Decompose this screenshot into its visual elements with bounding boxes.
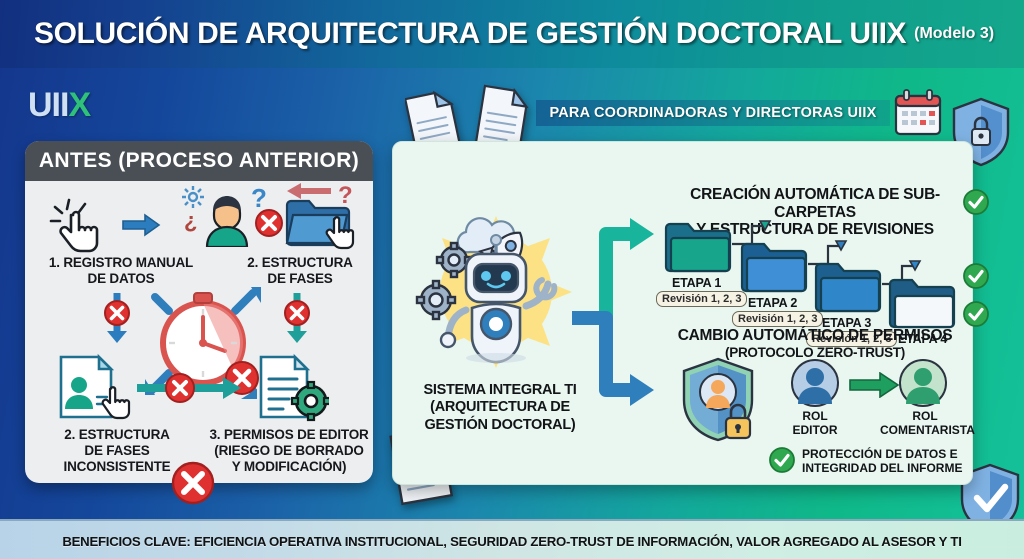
folder-icon [886,274,958,334]
protection-line1: PROTECCIÓN DE DATOS E [802,447,958,461]
audience-ribbon: PARA COORDINADORAS Y DIRECTORAS UIIX [536,100,890,126]
footer-text: BENEFICIOS CLAVE: EFICIENCIA OPERATIVA I… [62,534,961,549]
header-bar: SOLUCIÓN DE ARQUITECTURA DE GESTIÓN DOCT… [0,0,1024,68]
user-icon [898,358,948,408]
role-from-label: ROLEDITOR [780,410,850,438]
question-mark-icon: ¿ [183,207,201,233]
folder-icon [738,238,810,298]
cross-circle-icon [170,460,216,506]
page-title: SOLUCIÓN DE ARQUITECTURA DE GESTIÓN DOCT… [34,17,906,51]
svg-text:¿: ¿ [184,208,197,233]
svg-text:?: ? [338,182,353,209]
protection-line2: INTEGRIDAD DEL INFORME [802,461,962,475]
revision-badge: Revisión 1, 2, 3 [732,311,823,327]
check-circle-icon [962,188,990,216]
folder-icon [812,258,884,318]
check-circle-icon [962,300,990,328]
arrow-right-icon [848,372,900,398]
user-icon [790,358,840,408]
user-icon [201,193,253,247]
arrow-left-icon [285,181,333,201]
audience-ribbon-text: PARA COORDINADORAS Y DIRECTORAS UIIX [549,105,876,121]
page-subtitle: (Modelo 3) [914,25,994,43]
role-to-label: ROLCOMENTARISTA [880,410,970,438]
before-item-label: 3. PERMISOS DE EDITOR(RIESGO DE BORRADOY… [201,427,373,475]
before-panel-body: ? ¿ ? 1. REGISTRO MANUALDE DATOS [25,181,373,483]
logo-text: UII [28,86,68,124]
calendar-icon [892,88,944,138]
check-circle-icon [962,262,990,290]
down-arrow-blocked-icon [281,291,313,343]
uiix-logo: UIIX [28,86,90,125]
branch-arrows-icon [572,210,662,420]
cross-circle-icon [253,207,285,239]
before-panel: ANTES (PROCESO ANTERIOR) [25,141,373,483]
folder-icon [662,218,734,278]
cross-circle-icon [163,371,197,405]
check-circle-icon [768,446,796,474]
stage-label: ETAPA 1 [672,276,721,290]
click-hand-icon [321,211,359,251]
footer-bar: BENEFICIOS CLAVE: EFICIENCIA OPERATIVA I… [0,519,1024,559]
arrow-right-icon [121,213,161,237]
logo-accent: X [68,86,90,124]
shield-lock-icon [678,356,758,442]
down-arrow-blocked-icon [101,291,133,343]
center-system-label: SISTEMA INTEGRAL TI(ARQUITECTURA DEGESTI… [400,382,600,434]
before-panel-heading: ANTES (PROCESO ANTERIOR) [25,141,373,181]
permissions-title-line1: CAMBIO AUTOMÁTICO DE PERMISOS [678,327,953,344]
folders-title-line1: CREACIÓN AUTOMÁTICA DE SUB-CARPETAS [690,186,940,221]
robot-icon [404,196,594,376]
stage-label: ETAPA 2 [748,296,797,310]
permissions-section-title: CAMBIO AUTOMÁTICO DE PERMISOS [660,327,970,345]
question-mark-icon: ? [337,181,357,209]
infographic-canvas: SOLUCIÓN DE ARQUITECTURA DE GESTIÓN DOCT… [0,0,1024,559]
protection-label: PROTECCIÓN DE DATOS E INTEGRIDAD DEL INF… [802,447,1002,476]
click-hand-icon [47,195,109,253]
revision-badge: Revisión 1, 2, 3 [656,291,747,307]
document-gear-icon [253,353,329,423]
click-hand-icon [97,381,135,423]
